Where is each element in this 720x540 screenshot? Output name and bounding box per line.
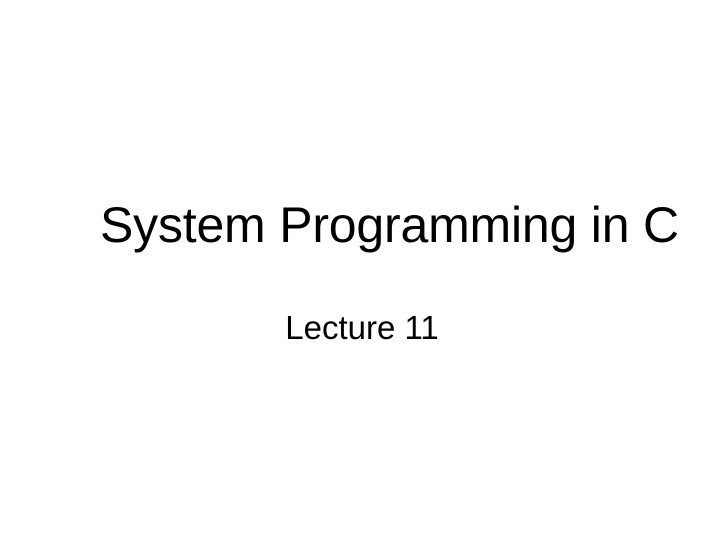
- page-title: System Programming in C: [100, 196, 640, 254]
- slide-canvas: System Programming in C Lecture 11: [0, 0, 720, 540]
- subtitle-placeholder[interactable]: Lecture 11: [100, 308, 624, 352]
- title-placeholder[interactable]: System Programming in C: [100, 196, 640, 256]
- page-subtitle: Lecture 11: [100, 308, 624, 348]
